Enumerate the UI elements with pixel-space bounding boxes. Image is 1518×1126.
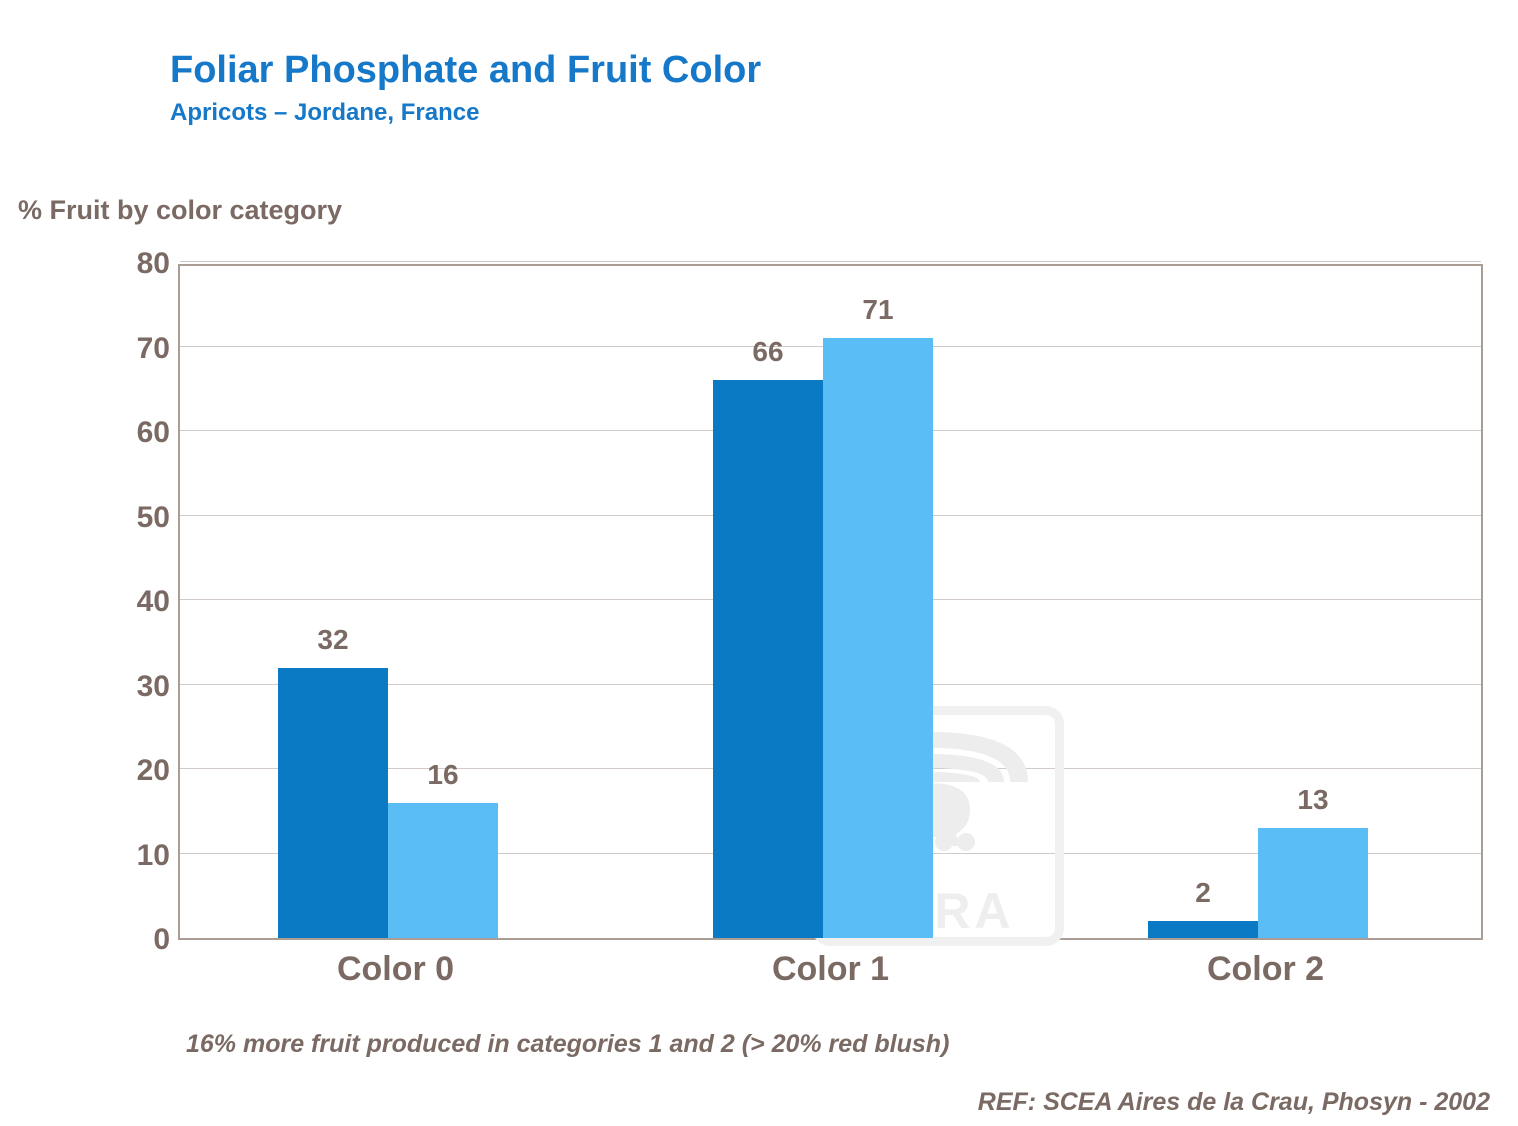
x-axis-label: Color 1 (621, 950, 1041, 989)
y-tick-label: 20 (60, 754, 170, 788)
y-tick-label: 50 (60, 501, 170, 535)
plot-area: YARA 32166671213 (178, 264, 1483, 940)
y-tick-label: 80 (60, 247, 170, 281)
bar-group: 213 (1050, 266, 1485, 938)
y-tick-label: 60 (60, 416, 170, 450)
x-axis-labels: Color 0Color 1Color 2 (178, 950, 1483, 998)
bar: 2 (1148, 921, 1258, 938)
bar: 66 (713, 380, 823, 938)
bar-group: 6671 (615, 266, 1050, 938)
bar-group: 3216 (180, 266, 615, 938)
title-block: Foliar Phosphate and Fruit Color Apricot… (170, 48, 761, 128)
y-tick-label: 10 (60, 839, 170, 873)
bar-value-label: 66 (752, 336, 783, 368)
reference-note: REF: SCEA Aires de la Crau, Phosyn - 200… (978, 1088, 1490, 1117)
bar: 16 (388, 803, 498, 938)
bar-value-label: 16 (427, 759, 458, 791)
page-title: Foliar Phosphate and Fruit Color (170, 48, 761, 92)
y-axis-title: % Fruit by color category (18, 195, 342, 226)
y-tick-label: 0 (60, 923, 170, 957)
bar: 13 (1258, 828, 1368, 938)
y-tick-label: 40 (60, 585, 170, 619)
gridline (180, 261, 1481, 262)
bar-value-label: 13 (1297, 784, 1328, 816)
bar-value-label: 71 (862, 294, 893, 326)
bar-value-label: 32 (317, 624, 348, 656)
bar-value-label: 2 (1195, 877, 1211, 909)
page-subtitle: Apricots – Jordane, France (170, 98, 761, 128)
y-tick-label: 30 (60, 670, 170, 704)
x-axis-label: Color 2 (1056, 950, 1476, 989)
bar: 32 (278, 668, 388, 938)
bar: 71 (823, 338, 933, 938)
x-axis-label: Color 0 (186, 950, 606, 989)
footnote: 16% more fruit produced in categories 1 … (186, 1030, 949, 1059)
y-tick-label: 70 (60, 332, 170, 366)
y-axis-ticks: 01020304050607080 (48, 264, 170, 940)
